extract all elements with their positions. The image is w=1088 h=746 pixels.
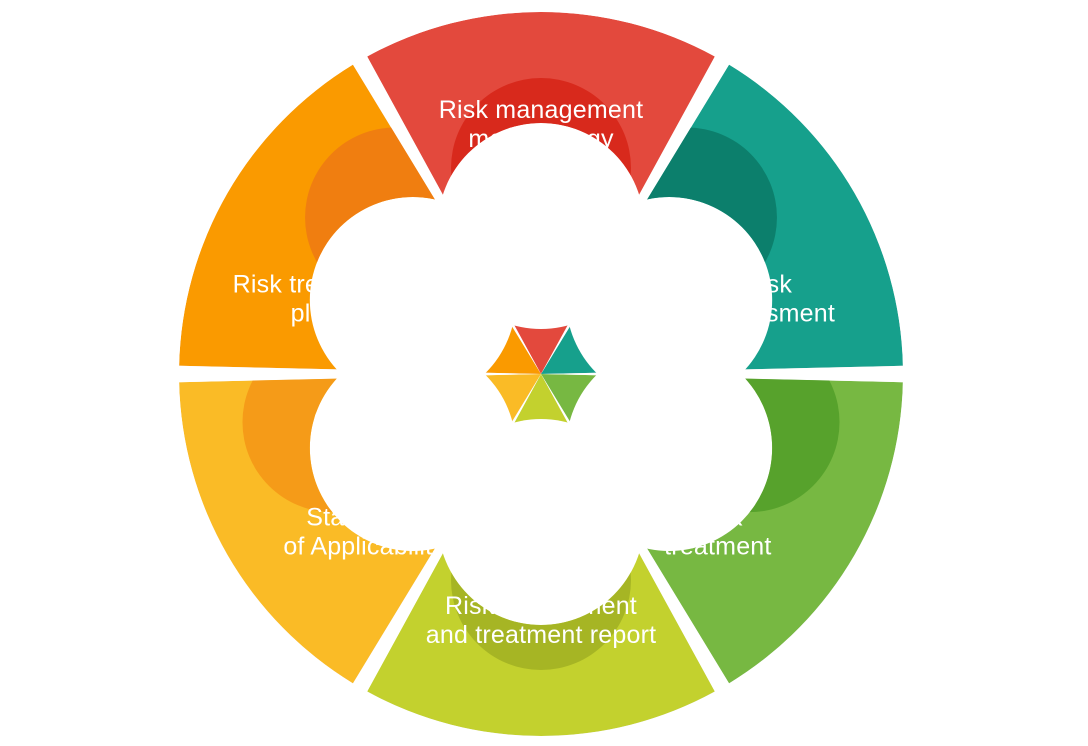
risk-management-cycle-diagram: 01Risk managementmethodology02Riskassess… — [0, 0, 1088, 746]
segment-label-05-line-1: Statement — [306, 503, 422, 531]
segment-label-06-line-1: Risk treatment — [233, 271, 397, 299]
segment-number-03: 03 — [730, 403, 769, 440]
segment-number-01: 01 — [522, 149, 561, 186]
segment-label-02-line-1: Risk — [743, 271, 793, 299]
segment-label-03-line-2: treatment — [664, 532, 771, 560]
segment-label-01-line-2: methodology — [468, 125, 614, 153]
segment-number-06: 06 — [376, 198, 415, 235]
segment-label-02-line-2: assessment — [700, 300, 835, 328]
segment-number-05: 05 — [313, 403, 352, 440]
segment-label-04-line-2: and treatment report — [426, 621, 657, 649]
segment-label-01-line-1: Risk management — [439, 96, 643, 124]
segment-label-06-line-2: plan — [291, 300, 339, 328]
segment-label-05-line-2: of Applicability — [283, 532, 445, 560]
wheel-svg: 01Risk managementmethodology02Riskassess… — [0, 0, 1088, 746]
segment-label-03-line-1: Risk — [693, 503, 743, 531]
segment-number-02: 02 — [668, 198, 707, 235]
segment-label-04-line-1: Risk assessment — [445, 592, 637, 620]
